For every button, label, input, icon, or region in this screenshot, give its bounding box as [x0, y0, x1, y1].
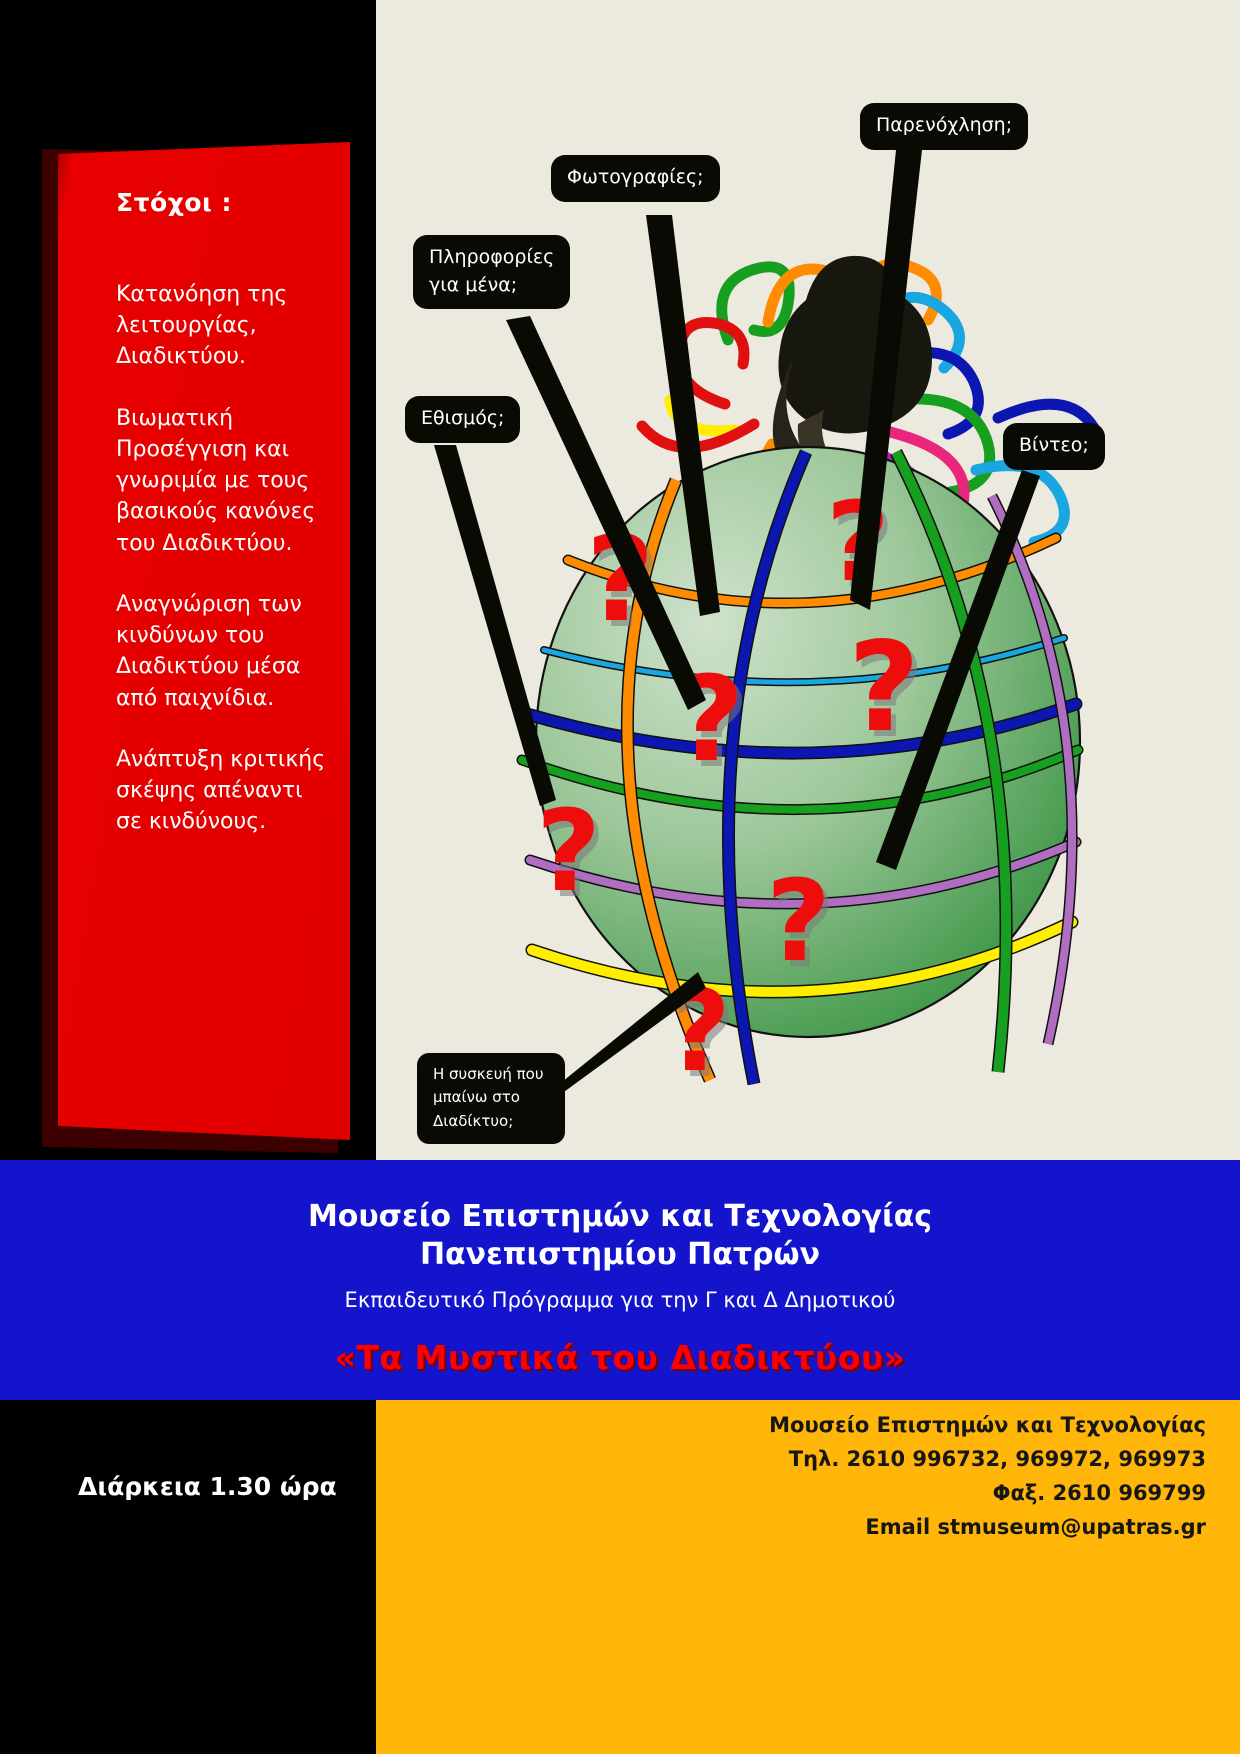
contact-line-3: Φαξ. 2610 969799	[646, 1476, 1206, 1510]
contact-line-1: Μουσείο Επιστημών και Τεχνολογίας	[646, 1408, 1206, 1442]
stem-video	[876, 470, 1040, 870]
contact-line-2: Τηλ. 2610 996732, 969972, 969973	[646, 1442, 1206, 1476]
poster-root: ? ? ? ? ? ? ?	[0, 0, 1240, 1754]
stem-parenoxlisi	[850, 150, 922, 610]
goal-item-1: Κατανόηση της λειτουργίας, Διαδικτύου.	[116, 279, 328, 373]
museum-name-line2: Πανεπιστημίου Πατρών	[0, 1236, 1240, 1274]
stem-syskevi	[542, 972, 706, 1108]
goal-item-4: Ανάπτυξη κριτικής σκέψης απέναντι σε κιν…	[116, 744, 328, 838]
callout-stems	[376, 0, 1240, 1160]
duration-text: Διάρκεια 1.30 ώρα	[78, 1472, 337, 1501]
contact-details: Μουσείο Επιστημών και Τεχνολογίας Τηλ. 2…	[646, 1408, 1206, 1544]
goals-title: Στόχοι :	[116, 188, 328, 217]
contact-line-4: Email stmuseum@upatras.gr	[646, 1510, 1206, 1544]
callout-plirofories[interactable]: Πληροφορίες για μένα;	[413, 235, 570, 309]
stem-fotografies	[646, 215, 720, 616]
goal-item-3: Αναγνώριση των κινδύνων του Διαδικτύου μ…	[116, 589, 328, 714]
callout-video[interactable]: Βίντεο;	[1003, 423, 1105, 470]
goal-item-2: Βιωματική Προσέγγιση και γνωριμία με του…	[116, 403, 328, 559]
callout-parenoxlisi[interactable]: Παρενόχληση;	[860, 103, 1028, 150]
band-content: Μουσείο Επιστημών και Τεχνολογίας Πανεπι…	[0, 1160, 1240, 1400]
callout-fotografies[interactable]: Φωτογραφίες;	[551, 155, 720, 202]
museum-name-line1: Μουσείο Επιστημών και Τεχνολογίας	[0, 1160, 1240, 1236]
program-subtitle: Εκπαιδευτικό Πρόγραμμα για την Γ και Δ Δ…	[0, 1275, 1240, 1312]
artwork-area: ? ? ? ? ? ? ?	[376, 0, 1240, 1160]
callout-ethismos[interactable]: Εθισμός;	[405, 396, 520, 443]
stem-ethismos	[434, 445, 556, 806]
callout-syskevi[interactable]: Η συσκευή που μπαίνω στο Διαδίκτυο;	[417, 1053, 565, 1144]
goals-content: Στόχοι : Κατανόηση της λειτουργίας, Διαδ…	[116, 188, 328, 868]
program-title: «Τα Μυστικά του Διαδικτύου»	[0, 1312, 1240, 1377]
